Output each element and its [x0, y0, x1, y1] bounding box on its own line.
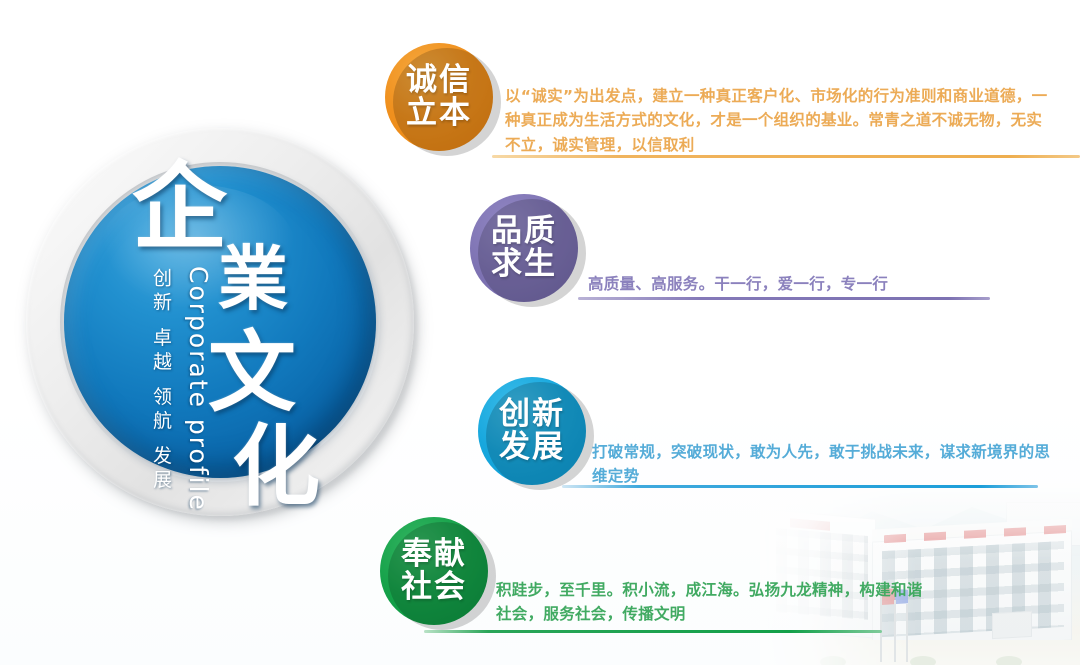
- badge-quality[interactable]: 品质 求生: [470, 194, 578, 302]
- emblem-vertical-slogan: 创新 卓越 领航 发展: [148, 268, 175, 493]
- body-text-dedication: 积跬步，至千里。积小流，成江海。弘扬九龙精神，构建和谐社会，服务社会，传播文明: [496, 578, 926, 627]
- campus-building-photo: [760, 480, 1080, 665]
- badge-innovation-label: 创新 发展: [499, 398, 565, 465]
- emblem-vertical-english: Corporate profile: [184, 266, 213, 512]
- emblem-text-group: 企 業 文 化 创新 卓越 领航 发展 Corporate profile: [22, 122, 426, 532]
- emblem-char-qi: 企: [132, 160, 227, 255]
- emblem-char-ye: 業: [218, 244, 288, 314]
- corporate-culture-emblem: 企 業 文 化 创新 卓越 领航 发展 Corporate profile: [22, 122, 426, 532]
- divider-integrity: [492, 155, 1080, 158]
- photo-fade-top: [760, 480, 1080, 665]
- body-text-innovation: 打破常规，突破现状，敢为人先，敢于挑战未来，谋求新境界的思维定势: [592, 440, 1062, 489]
- divider-quality: [578, 297, 990, 300]
- body-text-integrity: 以“诚实”为出发点，建立一种真正客户化、市场化的行为准则和商业道德，一种真正成为…: [505, 84, 1053, 157]
- body-text-quality: 高质量、高服务。干一行，爱一行，专一行: [588, 272, 1008, 296]
- divider-innovation: [562, 485, 1038, 488]
- badge-dedication[interactable]: 奉献 社会: [380, 517, 488, 625]
- badge-integrity-label: 诚信 立本: [406, 64, 472, 131]
- badge-dedication-label: 奉献 社会: [401, 538, 467, 605]
- badge-quality-label: 品质 求生: [491, 215, 557, 282]
- emblem-char-wen: 文: [208, 328, 296, 416]
- badge-integrity[interactable]: 诚信 立本: [385, 43, 493, 151]
- infographic-canvas: 企 業 文 化 创新 卓越 领航 发展 Corporate profile 诚信…: [0, 0, 1080, 665]
- badge-innovation[interactable]: 创新 发展: [478, 377, 586, 485]
- emblem-char-hua: 化: [232, 422, 320, 510]
- divider-dedication: [424, 630, 882, 633]
